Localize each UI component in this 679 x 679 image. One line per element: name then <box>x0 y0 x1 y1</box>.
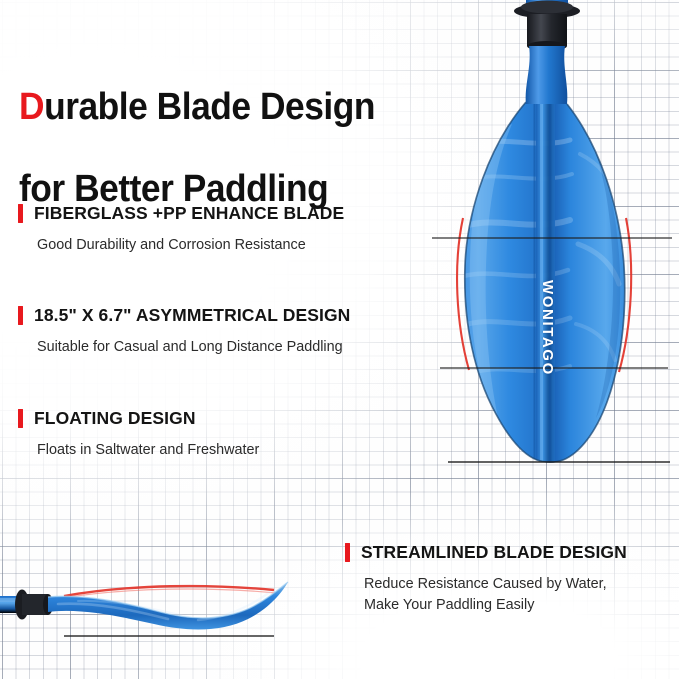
red-bullet-icon <box>345 543 350 562</box>
feature-item-streamlined: STREAMLINED BLADE DESIGN Reduce Resistan… <box>345 542 627 616</box>
feature-description: Reduce Resistance Caused by Water, Make … <box>364 574 627 616</box>
feature-item-fiberglass: FIBERGLASS +PP ENHANCE BLADE Good Durabi… <box>18 203 344 256</box>
paddle-blade-front-view <box>420 0 679 474</box>
feature-title-row: 18.5" X 6.7" ASYMMETRICAL DESIGN <box>18 305 350 326</box>
headline-line1: urable Blade Design <box>44 86 375 128</box>
feature-title: STREAMLINED BLADE DESIGN <box>361 542 627 563</box>
feature-title-row: FIBERGLASS +PP ENHANCE BLADE <box>18 203 344 224</box>
feature-description: Suitable for Casual and Long Distance Pa… <box>37 337 350 358</box>
red-bullet-icon <box>18 204 23 223</box>
feature-description: Good Durability and Corrosion Resistance <box>37 235 344 256</box>
product-infographic: Durable Blade Design for Better Paddling… <box>0 0 679 679</box>
feature-title: FIBERGLASS +PP ENHANCE BLADE <box>34 203 344 224</box>
feature-title: 18.5" X 6.7" ASYMMETRICAL DESIGN <box>34 305 350 326</box>
page-title: Durable Blade Design for Better Paddling <box>19 46 391 210</box>
paddle-blade-side-view <box>0 540 342 660</box>
brand-label: WONITAGO <box>539 280 556 376</box>
red-bullet-icon <box>18 306 23 325</box>
red-bullet-icon <box>18 409 23 428</box>
feature-item-floating: FLOATING DESIGN Floats in Saltwater and … <box>18 408 259 461</box>
headline-drop-cap: D <box>19 86 44 128</box>
feature-item-asymmetrical: 18.5" X 6.7" ASYMMETRICAL DESIGN Suitabl… <box>18 305 350 358</box>
feature-title-row: STREAMLINED BLADE DESIGN <box>345 542 627 563</box>
feature-title-row: FLOATING DESIGN <box>18 408 259 429</box>
feature-title: FLOATING DESIGN <box>34 408 196 429</box>
feature-description: Floats in Saltwater and Freshwater <box>37 440 259 461</box>
